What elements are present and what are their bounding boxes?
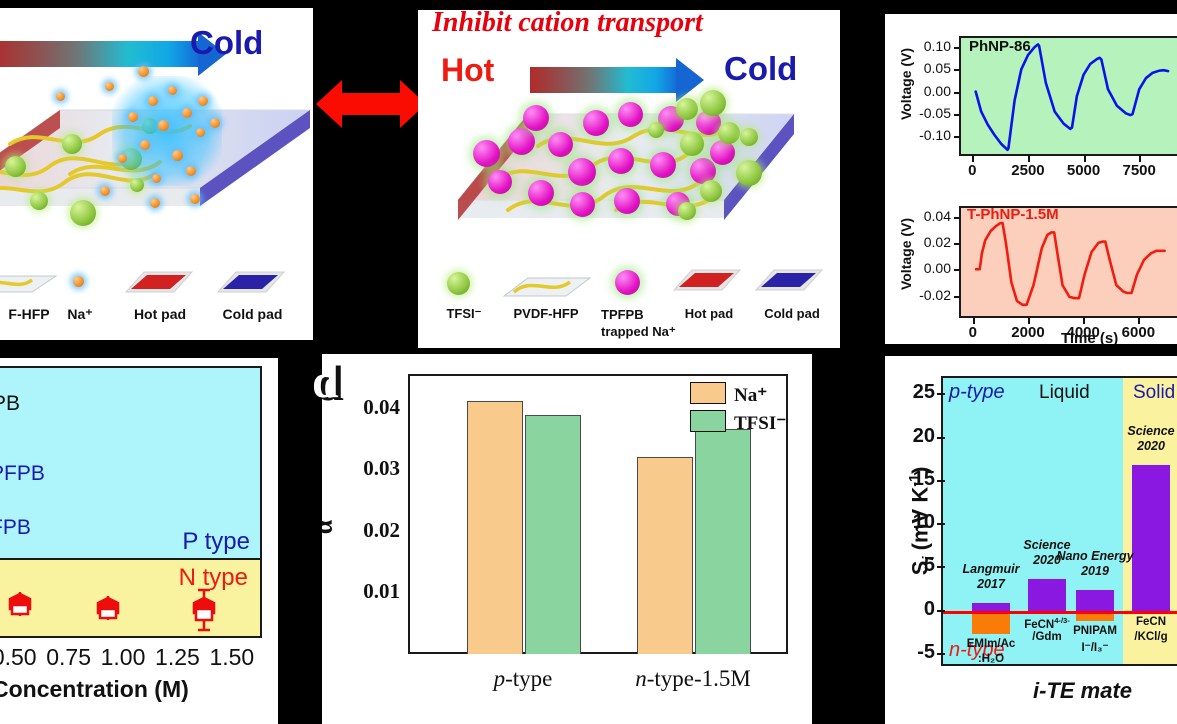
tfsi-ion — [5, 156, 26, 177]
ite-bar-material2-0: :H₂O — [949, 653, 1033, 665]
voltage-xlabel: Time (s) — [1061, 330, 1118, 344]
x-tick-label: 0 — [946, 162, 998, 179]
x-tick-label: 5000 — [1058, 162, 1110, 179]
tpfpb-trapped-na-ion — [583, 110, 609, 136]
panel-schematic-p-type: Cold — [0, 8, 313, 340]
category-suffix: -type — [505, 666, 552, 691]
ite-y-tick-label: 10 — [889, 511, 935, 534]
na-ion — [148, 96, 158, 106]
y-tick-mark — [937, 437, 945, 439]
x-tick-mark — [1028, 156, 1030, 162]
tfsi-ion — [70, 200, 96, 226]
panel-b-title: Inhibit cation transport — [432, 10, 703, 39]
ite-bar-material-3: FeCN — [1109, 616, 1177, 628]
tpfpb-trapped-na-ion — [508, 128, 535, 155]
na-ion — [138, 66, 149, 77]
legend-hot-pad-icon-b — [670, 258, 744, 300]
na-ion — [198, 96, 208, 106]
ite-bar-material2-3: /KCl/g — [1109, 631, 1177, 643]
concentration-axis-title: Concentration (M) — [0, 676, 189, 703]
na-ion — [186, 166, 196, 176]
y-tick-label: 0.10 — [903, 38, 951, 54]
na-ion — [152, 174, 161, 183]
na-ion — [182, 108, 192, 118]
concentration-tick-label: 1.25 — [151, 644, 203, 671]
category-prefix: p — [494, 666, 506, 691]
na-ion — [190, 194, 200, 204]
tfsi-ion — [700, 90, 726, 116]
legend-cold-pad-icon-b — [752, 258, 826, 300]
alpha-bar-na-ntype15m — [637, 457, 693, 654]
legend-tfsi-icon-b — [447, 272, 470, 295]
legend-label-na-a: Na⁺ — [50, 306, 110, 323]
ite-bar-year-3: 2020 — [1109, 439, 1177, 453]
tpfpb-trapped-na-ion — [618, 102, 643, 127]
y-tick-mark — [937, 480, 945, 482]
na-ion — [140, 140, 150, 150]
concentration-tick-label: 0.75 — [42, 644, 94, 671]
alpha-y-tick-label: 0.02 — [336, 518, 400, 543]
y-tick-label: 0.00 — [903, 260, 951, 276]
y-tick-label: -0.02 — [903, 287, 951, 303]
ite-y-tick-label: 5 — [889, 554, 935, 577]
legend-label-hot-pad-b: Hot pad — [674, 306, 744, 321]
tpfpb-trapped-na-ion — [473, 140, 500, 167]
ite-y-tick-label: 25 — [889, 381, 935, 404]
voltage-series-title-bottom: T-PhNP-1.5M — [967, 206, 1059, 223]
label-cold-b: Cold — [724, 50, 797, 88]
na-ion — [118, 154, 127, 163]
y-tick-mark — [937, 523, 945, 525]
panel-schematic-n-type: Inhibit cation transport Hot Cold — [418, 10, 840, 348]
tfsi-ion — [678, 202, 696, 220]
voltage-series-title-top: PhNP-86 — [969, 38, 1031, 55]
panel-seebeck-concentration: PB PFPB FPB P type N type 0.500.751.0 — [0, 358, 278, 724]
tpfpb-trapped-na-ion — [650, 152, 676, 178]
ite-xlabel: i-TE mate — [1033, 678, 1132, 704]
legend-label-hot-pad-a: Hot pad — [125, 306, 195, 322]
alpha-y-tick-label: 0.03 — [336, 456, 400, 481]
na-ion — [128, 112, 138, 122]
label-cold-a: Cold — [190, 24, 263, 62]
x-tick-mark — [973, 318, 975, 324]
panel-voltage-cycles: Voltage (V) 0.100.050.00-0.05-0.10 PhNP-… — [885, 14, 1177, 344]
bidirectional-arrow-icon — [316, 76, 426, 132]
y-tick-mark — [937, 653, 945, 655]
figure-root: Cold — [0, 0, 1177, 724]
ite-y-tick-label: -5 — [889, 641, 935, 664]
y-tick-mark — [937, 610, 945, 612]
ite-bar-annotations: Langmuir2017EMIm/Ac:H₂OScience2020FeCN4-… — [943, 378, 1177, 664]
tpfpb-trapped-na-ion — [528, 180, 554, 206]
x-tick-label: 0 — [947, 324, 999, 341]
na-ion — [150, 198, 160, 208]
alpha-legend-label-na: Na⁺ — [734, 384, 767, 407]
legend-label-tfsi-b: TFSI⁻ — [434, 306, 494, 322]
y-tick-mark — [937, 566, 945, 568]
alpha-bar-tfsi-ntype15m — [695, 429, 751, 654]
legend-label-cold-pad-b: Cold pad — [756, 306, 828, 321]
ite-bar-year-0: 2017 — [949, 577, 1033, 591]
tfsi-ion — [648, 122, 664, 138]
na-ion — [172, 150, 183, 161]
ite-bar-reference-2: Nano Energy — [1053, 550, 1137, 563]
alpha-category-label: n-type-1.5M — [603, 666, 783, 692]
legend-label-cold-pad-a: Cold pad — [215, 306, 290, 322]
x-tick-mark — [1084, 156, 1086, 162]
y-tick-label: -0.10 — [903, 127, 951, 143]
alpha-legend-swatch-na — [690, 382, 726, 404]
legend-label-tpfpb-na-b: TPFPB trapped Na⁺ — [601, 306, 681, 340]
na-ion — [100, 186, 110, 196]
tpfpb-trapped-na-ion — [614, 188, 640, 214]
ite-bar-material-sup-1: 4-/3- — [1054, 616, 1070, 625]
alpha-legend-swatch-tfsi — [690, 410, 726, 432]
alpha-bar-na-ptype — [467, 401, 523, 654]
tpfpb-trapped-na-ion — [568, 158, 596, 186]
concentration-tick-label: 1.50 — [206, 644, 258, 671]
tfsi-ion — [718, 122, 740, 144]
na-ion — [196, 128, 205, 137]
alpha-bar-tfsi-ptype — [525, 415, 581, 654]
tfsi-ion — [700, 180, 722, 202]
na-ion — [105, 82, 114, 91]
concentration-tick-labels: 0.500.751.001.251.50 — [0, 644, 258, 671]
x-tick-mark — [1138, 318, 1140, 324]
tpfpb-trapped-na-ion — [570, 192, 595, 217]
ite-y-tick-label: 15 — [889, 468, 935, 491]
legend-pvdf-icon-a — [0, 258, 60, 303]
tfsi-ion — [62, 134, 82, 154]
x-tick-label: 7500 — [1113, 162, 1165, 179]
tfsi-ion — [30, 192, 48, 210]
x-tick-mark — [1083, 318, 1085, 324]
na-ion — [158, 120, 169, 131]
na-ion-cloud — [112, 76, 222, 186]
legend-tpfpb-na-icon-b — [615, 270, 640, 295]
legend-label-pvdf-b: PVDF-HFP — [501, 306, 591, 321]
alpha-y-tick-label: 0.01 — [336, 579, 400, 604]
alpha-category-label: p-type — [433, 666, 613, 692]
x-tick-mark — [1139, 156, 1141, 162]
tpfpb-trapped-na-ion — [608, 148, 634, 174]
concentration-tick-label: 0.50 — [0, 644, 40, 671]
tpfpb-trapped-na-ion — [488, 170, 512, 194]
x-tick-label: 2000 — [1002, 324, 1054, 341]
concentration-tick-label: 1.00 — [97, 644, 149, 671]
x-tick-mark — [972, 156, 974, 162]
ite-bar-reference-3: Science — [1109, 425, 1177, 438]
ite-y-tick-label: 20 — [889, 425, 935, 448]
seebeck-plot-area: PB PFPB FPB P type N type — [0, 366, 262, 638]
tfsi-ion — [676, 98, 698, 120]
legend-cold-pad-icon-a — [214, 260, 288, 302]
ite-y-tick-label: 0 — [889, 598, 935, 621]
x-tick-label: 2500 — [1002, 162, 1054, 179]
tpfpb-trapped-na-ion — [523, 105, 549, 131]
thermal-gradient-arrow-a — [0, 41, 200, 67]
panel-ite-comparison: Si (mV K-1) 2520151050-5 p-type n-type L… — [885, 356, 1177, 724]
label-hot-b: Hot — [441, 52, 494, 89]
legend-pvdf-icon-b — [500, 262, 596, 308]
y-tick-label: 0.04 — [903, 208, 951, 224]
category-suffix: -type-1.5M — [647, 666, 751, 691]
alpha-y-tick-label: 0.04 — [336, 395, 400, 420]
alpha-legend-label-tfsi: TFSI⁻ — [734, 412, 786, 435]
y-tick-label: 0.05 — [903, 60, 951, 76]
tfsi-ion — [736, 160, 762, 186]
n-type-data-markers — [0, 368, 260, 636]
tpfpb-trapped-na-ion — [548, 132, 573, 157]
legend-na-icon-a — [73, 276, 84, 287]
x-tick-label: 6000 — [1112, 324, 1164, 341]
ite-bar-year-2: 2019 — [1053, 564, 1137, 578]
tfsi-ion — [680, 132, 704, 156]
y-tick-mark — [937, 393, 945, 395]
y-tick-label: 0.00 — [903, 83, 951, 99]
na-ion — [210, 118, 220, 128]
y-tick-label: 0.02 — [903, 234, 951, 250]
panel-letter-d: d — [312, 354, 339, 409]
category-prefix: n — [635, 666, 647, 691]
legend-hot-pad-icon-a — [122, 260, 196, 302]
panel-alpha-bars: d α 0.040.030.020.01 Na⁺ TFSI⁻ p-typen-t… — [322, 354, 812, 724]
na-ion — [56, 92, 65, 101]
y-tick-label: -0.05 — [903, 105, 951, 121]
tfsi-ion — [740, 128, 758, 146]
na-ion — [168, 86, 177, 95]
ite-plot-area: p-type n-type Liquid Solid Langmuir2017E… — [941, 376, 1177, 666]
x-tick-mark — [1028, 318, 1030, 324]
